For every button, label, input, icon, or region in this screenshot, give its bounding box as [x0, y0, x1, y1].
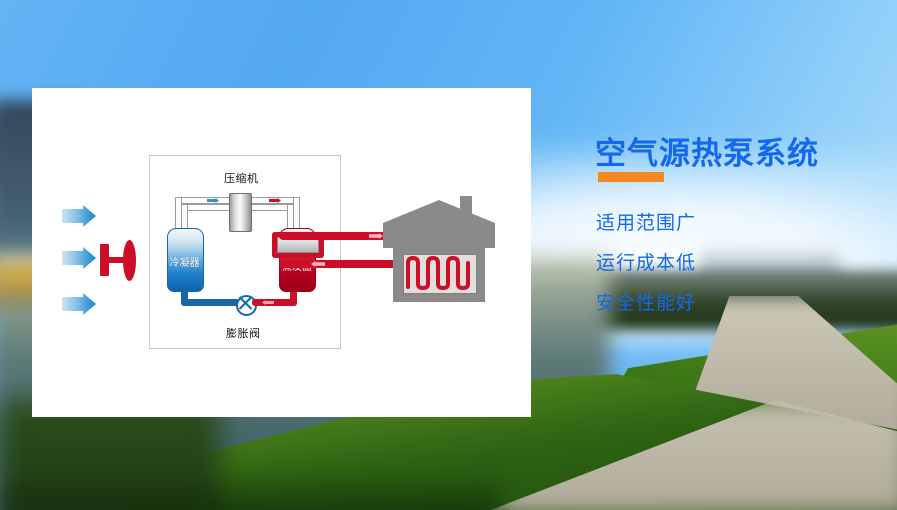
compressor-label: 压缩机: [224, 170, 259, 186]
pipe-liquid-line: [181, 299, 239, 306]
feature-item-3: 安全性能好: [596, 288, 696, 315]
house-icon: [383, 196, 495, 302]
compressor-unit: [229, 193, 252, 232]
fan-icon: [100, 240, 140, 280]
feature-item-2: 运行成本低: [596, 248, 696, 275]
feature-item-1: 适用范围广: [596, 208, 696, 235]
roof-shape: [383, 200, 495, 248]
underfloor-heating-coil: [405, 256, 473, 290]
expansion-valve-label: 膨胀阀: [226, 325, 261, 341]
fan-blade: [123, 240, 136, 281]
page-title: 空气源热泵系统: [595, 128, 819, 173]
title-accent-bar: [598, 172, 664, 182]
pipe-compressor-inlet-top: [181, 197, 231, 204]
foreground-shadow-layer: [0, 470, 500, 510]
condenser-label: 冷凝器: [167, 254, 202, 269]
pipe-right-riser: [293, 197, 300, 232]
slide-stage: 压缩机 冷凝器 膨胀阀 蒸发器 空气源热泵系统 适用范围广 运行成本低 安全性能…: [0, 0, 897, 510]
